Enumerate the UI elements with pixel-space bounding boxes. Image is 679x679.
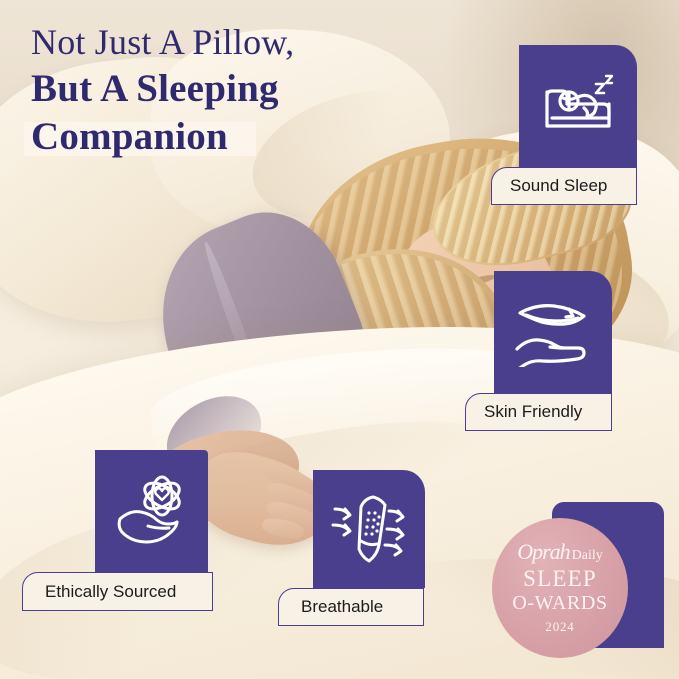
badge-icon-tile bbox=[494, 271, 612, 393]
award-brand-script: Oprah bbox=[517, 541, 569, 563]
badge-label-text: Ethically Sourced bbox=[45, 582, 176, 602]
sleeping-person-in-bed-icon bbox=[538, 70, 618, 142]
award-brand-name: Daily bbox=[572, 549, 603, 563]
hand-holding-atom-heart-icon bbox=[112, 473, 192, 549]
headline-block: Not Just A Pillow, But A Sleeping Compan… bbox=[31, 24, 294, 156]
feature-badge-skin-friendly: Skin Friendly bbox=[494, 271, 612, 431]
feature-badge-breathable: Breathable bbox=[313, 470, 425, 626]
feature-badge-ethically-sourced: Ethically Sourced bbox=[95, 450, 213, 611]
badge-icon-tile bbox=[95, 450, 208, 572]
badge-label-text: Breathable bbox=[301, 597, 383, 617]
fabric-airflow-arrows-icon bbox=[327, 491, 411, 567]
badge-label-text: Skin Friendly bbox=[484, 402, 582, 422]
product-lifestyle-image: Not Just A Pillow, But A Sleeping Compan… bbox=[0, 0, 679, 679]
badge-label-tab: Sound Sleep bbox=[491, 167, 637, 205]
hand-holding-feather-icon bbox=[512, 297, 594, 367]
award-line-2: O-WARDS bbox=[512, 592, 607, 614]
feature-badge-sound-sleep: Sound Sleep bbox=[519, 45, 637, 205]
badge-icon-tile bbox=[519, 45, 637, 167]
badge-label-tab: Ethically Sourced bbox=[22, 572, 213, 611]
badge-label-text: Sound Sleep bbox=[510, 176, 607, 196]
headline-line-3: Companion bbox=[31, 115, 228, 158]
award-year: 2024 bbox=[545, 619, 574, 635]
award-brand: Oprah Daily bbox=[517, 541, 603, 563]
badge-icon-tile bbox=[313, 470, 425, 588]
headline-line-2: But A Sleeping bbox=[31, 69, 294, 108]
badge-label-tab: Skin Friendly bbox=[465, 393, 612, 431]
award-line-1: SLEEP bbox=[523, 567, 597, 591]
headline-line-3-wrap: Companion bbox=[31, 117, 228, 156]
award-seal-circle: Oprah Daily SLEEP O-WARDS 2024 bbox=[492, 518, 628, 658]
headline-line-1: Not Just A Pillow, bbox=[31, 24, 294, 60]
badge-label-tab: Breathable bbox=[278, 588, 424, 626]
